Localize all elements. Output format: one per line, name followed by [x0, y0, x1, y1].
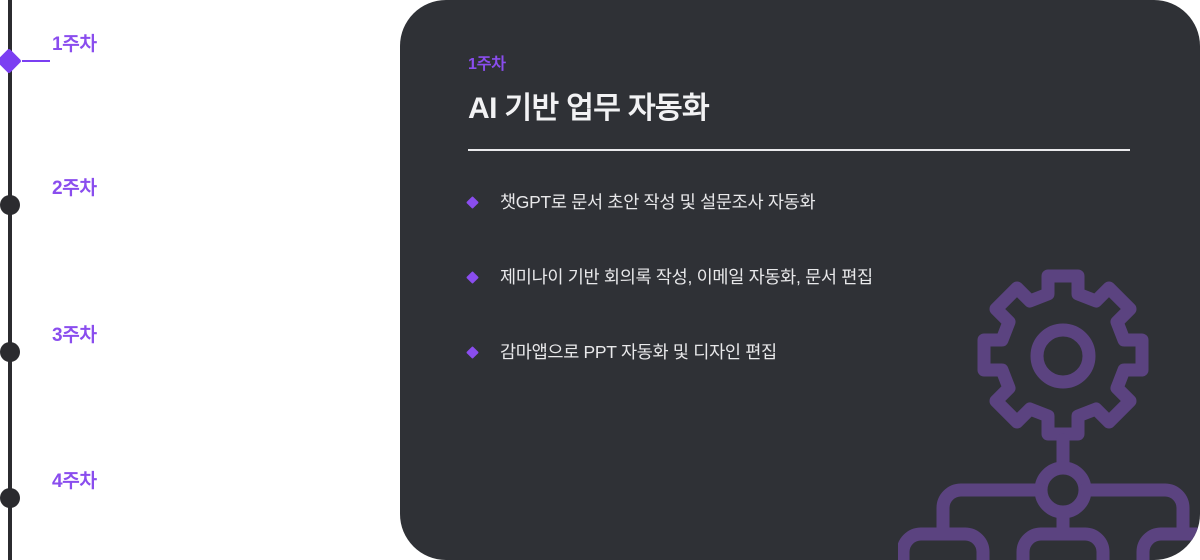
list-item: 제미나이 기반 회의록 작성, 이메일 자동화, 문서 편집 — [468, 266, 1130, 289]
list-item-label: 챗GPT로 문서 초안 작성 및 설문조사 자동화 — [500, 191, 815, 214]
week-timeline: 1주차 2주차 3주차 4주차 — [0, 0, 400, 560]
title-divider — [468, 149, 1130, 151]
list-item: 감마앱으로 PPT 자동화 및 디자인 편집 — [468, 341, 1130, 364]
diamond-bullet-icon — [466, 196, 479, 209]
timeline-node-week-2[interactable]: 2주차 — [0, 190, 200, 220]
timeline-label-week-3: 3주차 — [52, 320, 97, 347]
card-title: AI 기반 업무 자동화 — [468, 83, 1130, 127]
timeline-label-week-2: 2주차 — [52, 173, 97, 200]
circle-marker-icon — [0, 488, 20, 508]
timeline-label-week-1: 1주차 — [52, 29, 97, 56]
curriculum-bullet-list: 챗GPT로 문서 초안 작성 및 설문조사 자동화 제미나이 기반 회의록 작성… — [468, 191, 1130, 363]
list-item-label: 감마앱으로 PPT 자동화 및 디자인 편집 — [500, 341, 777, 364]
timeline-label-week-4: 4주차 — [52, 466, 97, 493]
week-detail-card: 1주차 AI 기반 업무 자동화 챗GPT로 문서 초안 작성 및 설문조사 자… — [400, 0, 1200, 560]
diamond-bullet-icon — [466, 346, 479, 359]
list-item: 챗GPT로 문서 초안 작성 및 설문조사 자동화 — [468, 191, 1130, 214]
timeline-node-week-3[interactable]: 3주차 — [0, 337, 200, 367]
circle-marker-icon — [0, 342, 20, 362]
list-item-label: 제미나이 기반 회의록 작성, 이메일 자동화, 문서 편집 — [500, 266, 873, 289]
diamond-marker-icon — [0, 48, 22, 73]
card-content: 1주차 AI 기반 업무 자동화 챗GPT로 문서 초안 작성 및 설문조사 자… — [400, 0, 1200, 560]
timeline-node-week-4[interactable]: 4주차 — [0, 483, 200, 513]
timeline-connector-line — [22, 60, 50, 62]
diamond-bullet-icon — [466, 271, 479, 284]
card-eyebrow-week: 1주차 — [468, 50, 1130, 74]
timeline-rail — [8, 0, 12, 560]
timeline-node-week-1[interactable]: 1주차 — [0, 46, 200, 76]
slide-root: 1주차 2주차 3주차 4주차 — [0, 0, 1200, 560]
circle-marker-icon — [0, 195, 20, 215]
